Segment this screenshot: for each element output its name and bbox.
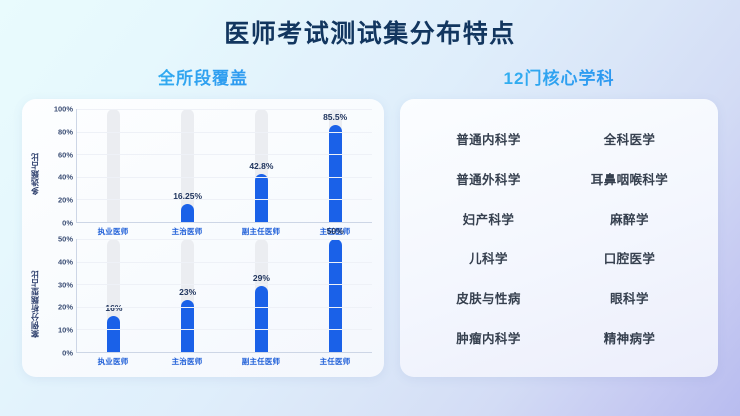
chart-1-y-tick: 60% [58,150,73,159]
gridline [77,154,372,155]
subject-item: 皮肤与性病 [418,288,559,307]
chart-2-plot-area: 16%23%29%50% 执业医师主治医师副主任医师主任医师 [76,239,372,369]
subject-item: 普通外科学 [418,169,559,188]
gridline [77,132,372,133]
x-axis-label: 主任医师 [298,356,372,367]
charts-column: 全所段覆盖 多选题占比 100%80%60%40%20%0% 16.25%42.… [22,64,384,377]
x-axis-label: 主治医师 [150,356,224,367]
bar-value-label: 42.8% [249,161,273,171]
page-title: 医师考试测试集分布特点 [0,0,740,50]
subject-item: 眼科学 [559,288,700,307]
bar-value-label: 16% [105,303,122,313]
chart-1-y-ticks: 100%80%60%40%20%0% [42,109,76,239]
bar-slot[interactable]: 16.25% [151,109,225,222]
subject-item: 耳鼻咽喉科学 [559,169,700,188]
bar-slot[interactable]: 23% [151,239,225,352]
subjects-section-title: 12门核心学科 [400,64,718,89]
bar-slot[interactable] [77,109,151,222]
bar[interactable] [255,174,268,222]
charts-card: 多选题占比 100%80%60%40%20%0% 16.25%42.8%85.5… [22,99,384,377]
bar[interactable] [181,300,194,352]
bar[interactable] [181,204,194,222]
bar-slot[interactable]: 50% [298,239,372,352]
subject-item: 儿科学 [418,248,559,267]
gridline [77,284,372,285]
chart-1-y-tick: 0% [62,219,73,228]
chart-2-bars: 16%23%29%50% [77,239,372,352]
chart-2-y-tick: 20% [58,303,73,312]
bar-value-label: 23% [179,287,196,297]
x-axis-label: 执业医师 [76,356,150,367]
gridline [77,199,372,200]
x-axis-label: 执业医师 [76,226,150,237]
subject-item: 普通内科学 [418,129,559,148]
gridline [77,177,372,178]
bar-slot[interactable]: 85.5% [298,109,372,222]
gridline [77,239,372,240]
subjects-card: 普通内科学全科医学普通外科学耳鼻咽喉科学妇产科学麻醉学儿科学口腔医学皮肤与性病眼… [400,99,718,377]
bar-track [107,109,120,222]
chart-2-y-tick: 40% [58,257,73,266]
bar[interactable] [107,316,120,352]
chart-2-y-tick: 30% [58,280,73,289]
chart-multiple-choice: 多选题占比 100%80%60%40%20%0% 16.25%42.8%85.5… [28,109,372,239]
chart-1-y-tick: 80% [58,127,73,136]
subject-item: 妇产科学 [418,209,559,228]
subjects-column: 12门核心学科 普通内科学全科医学普通外科学耳鼻咽喉科学妇产科学麻醉学儿科学口腔… [400,64,718,377]
subject-item: 口腔医学 [559,248,700,267]
chart-1-plot: 16.25%42.8%85.5% [76,109,372,223]
x-axis-label: 主治医师 [150,226,224,237]
bar-slot[interactable]: 16% [77,239,151,352]
subject-item: 全科医学 [559,129,700,148]
bar-value-label: 50% [327,226,344,236]
subject-item: 精神病学 [559,328,700,347]
bar-value-label: 29% [253,273,270,283]
gridline [77,262,372,263]
chart-2-y-ticks: 50%40%30%20%10%0% [42,239,76,369]
gridline [77,109,372,110]
subject-item: 麻醉学 [559,209,700,228]
x-axis-label: 副主任医师 [224,226,298,237]
chart-1-y-tick: 20% [58,196,73,205]
content-columns: 全所段覆盖 多选题占比 100%80%60%40%20%0% 16.25%42.… [0,64,740,377]
chart-2-y-axis-title: 案例分析题型占比 [28,239,42,369]
slide-root: 医师考试测试集分布特点 全所段覆盖 多选题占比 100%80%60%40%20%… [0,0,740,377]
bar-slot[interactable]: 29% [225,239,299,352]
charts-section-title: 全所段覆盖 [22,64,384,89]
chart-2-plot: 16%23%29%50% [76,239,372,353]
gridline [77,307,372,308]
bar[interactable] [329,239,342,352]
bar[interactable] [329,125,342,222]
x-axis-label: 副主任医师 [224,356,298,367]
bar[interactable] [255,286,268,352]
subject-item: 肿瘤内科学 [418,328,559,347]
chart-2-x-labels: 执业医师主治医师副主任医师主任医师 [76,353,372,369]
chart-2-y-tick: 10% [58,326,73,335]
gridline [77,329,372,330]
chart-2-y-tick: 0% [62,349,73,358]
chart-1-y-axis-title: 多选题占比 [28,109,42,239]
chart-1-y-tick: 40% [58,173,73,182]
bar-value-label: 85.5% [323,112,347,122]
chart-1-bars: 16.25%42.8%85.5% [77,109,372,222]
chart-case-analysis: 案例分析题型占比 50%40%30%20%10%0% 16%23%29%50% … [28,239,372,369]
chart-1-y-tick: 100% [54,105,73,114]
chart-2-y-tick: 50% [58,235,73,244]
chart-1-plot-area: 16.25%42.8%85.5% 执业医师主治医师副主任医师主任医师 [76,109,372,239]
bar-slot[interactable]: 42.8% [225,109,299,222]
